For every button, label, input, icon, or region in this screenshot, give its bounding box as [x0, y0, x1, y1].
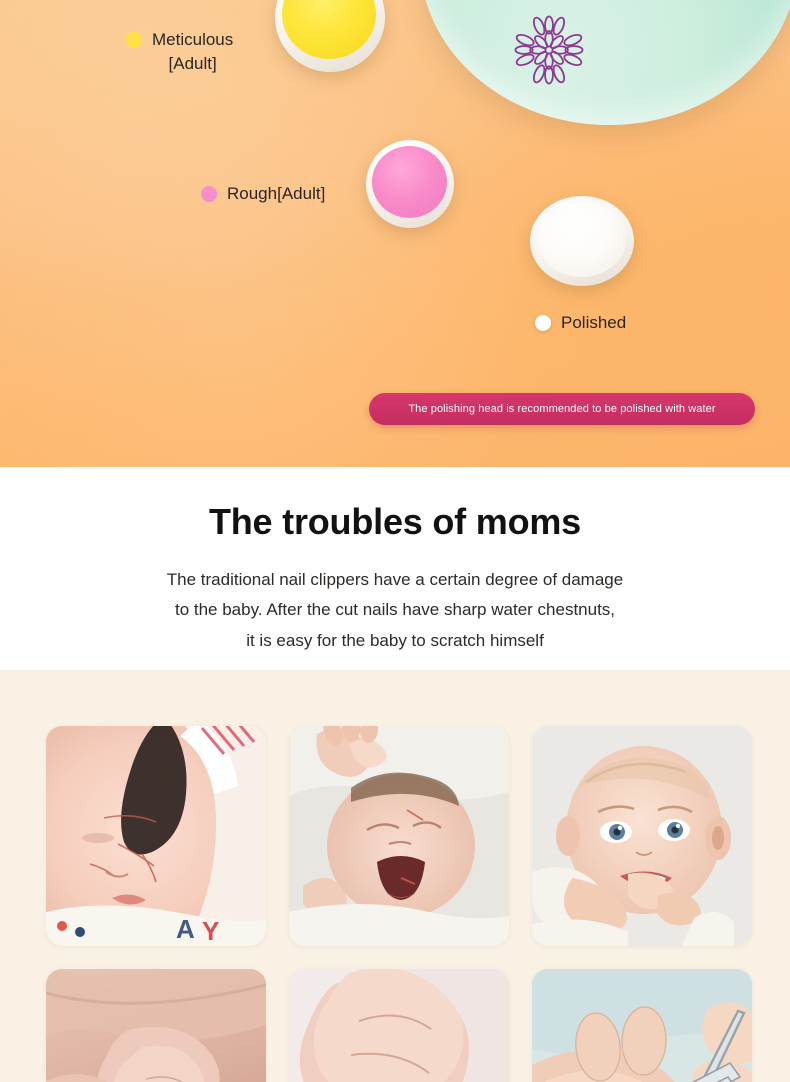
polishing-tip-text: The polishing head is recommended to be … — [408, 403, 715, 415]
sanding-disc-rough — [366, 140, 454, 228]
gallery-section: OFILY — [0, 670, 790, 1082]
photo-4-baby-hand-closeup — [46, 969, 266, 1082]
legend-label: Rough[Adult] — [227, 182, 325, 206]
legend-meticulous: Meticulous [Adult] — [126, 28, 233, 76]
sanding-disc-meticulous — [275, 0, 385, 72]
photo-cell[interactable] — [532, 726, 752, 946]
legend-label: Polished — [561, 311, 626, 335]
photo-cell[interactable] — [46, 969, 266, 1082]
svg-text:Y: Y — [202, 916, 219, 946]
hero-section: Meticulous [Adult] Rough[Adult] Polished… — [0, 0, 790, 467]
legend-dot-yellow-icon — [126, 32, 142, 48]
copy-section: The troubles of moms The traditional nai… — [0, 467, 790, 670]
photo-3-smiling-baby — [532, 726, 752, 946]
photo-grid: A Y — [46, 726, 752, 1082]
legend-label: Meticulous [Adult] — [152, 28, 233, 76]
legend-rough: Rough[Adult] — [201, 182, 325, 206]
photo-cell[interactable]: A Y — [46, 726, 266, 946]
legend-dot-white-icon — [535, 315, 551, 331]
photo-1-sleeping-baby-scratches: A Y — [46, 726, 266, 946]
page-subtitle: The traditional nail clippers have a cer… — [0, 565, 790, 656]
legend-polished: Polished — [535, 311, 626, 335]
page-title: The troubles of moms — [0, 501, 790, 543]
disc-pad-white — [537, 202, 626, 277]
photo-2-crying-baby — [289, 726, 509, 946]
photo-cell[interactable] — [289, 726, 509, 946]
photo-5-clipping-baby-nails — [289, 969, 509, 1082]
flower-pattern-icon — [506, 7, 592, 93]
photo-6-nail-clipper-on-finger — [532, 969, 752, 1082]
nail-trimmer-device — [420, 0, 790, 125]
polishing-tip-badge: The polishing head is recommended to be … — [369, 393, 755, 425]
photo-cell[interactable] — [532, 969, 752, 1082]
svg-text:A: A — [176, 914, 195, 944]
product-detail-page: Meticulous [Adult] Rough[Adult] Polished… — [0, 0, 790, 1082]
photo-cell[interactable] — [289, 969, 509, 1082]
legend-dot-pink-icon — [201, 186, 217, 202]
disc-pad-pink — [372, 146, 447, 218]
sanding-disc-polished — [530, 196, 634, 286]
